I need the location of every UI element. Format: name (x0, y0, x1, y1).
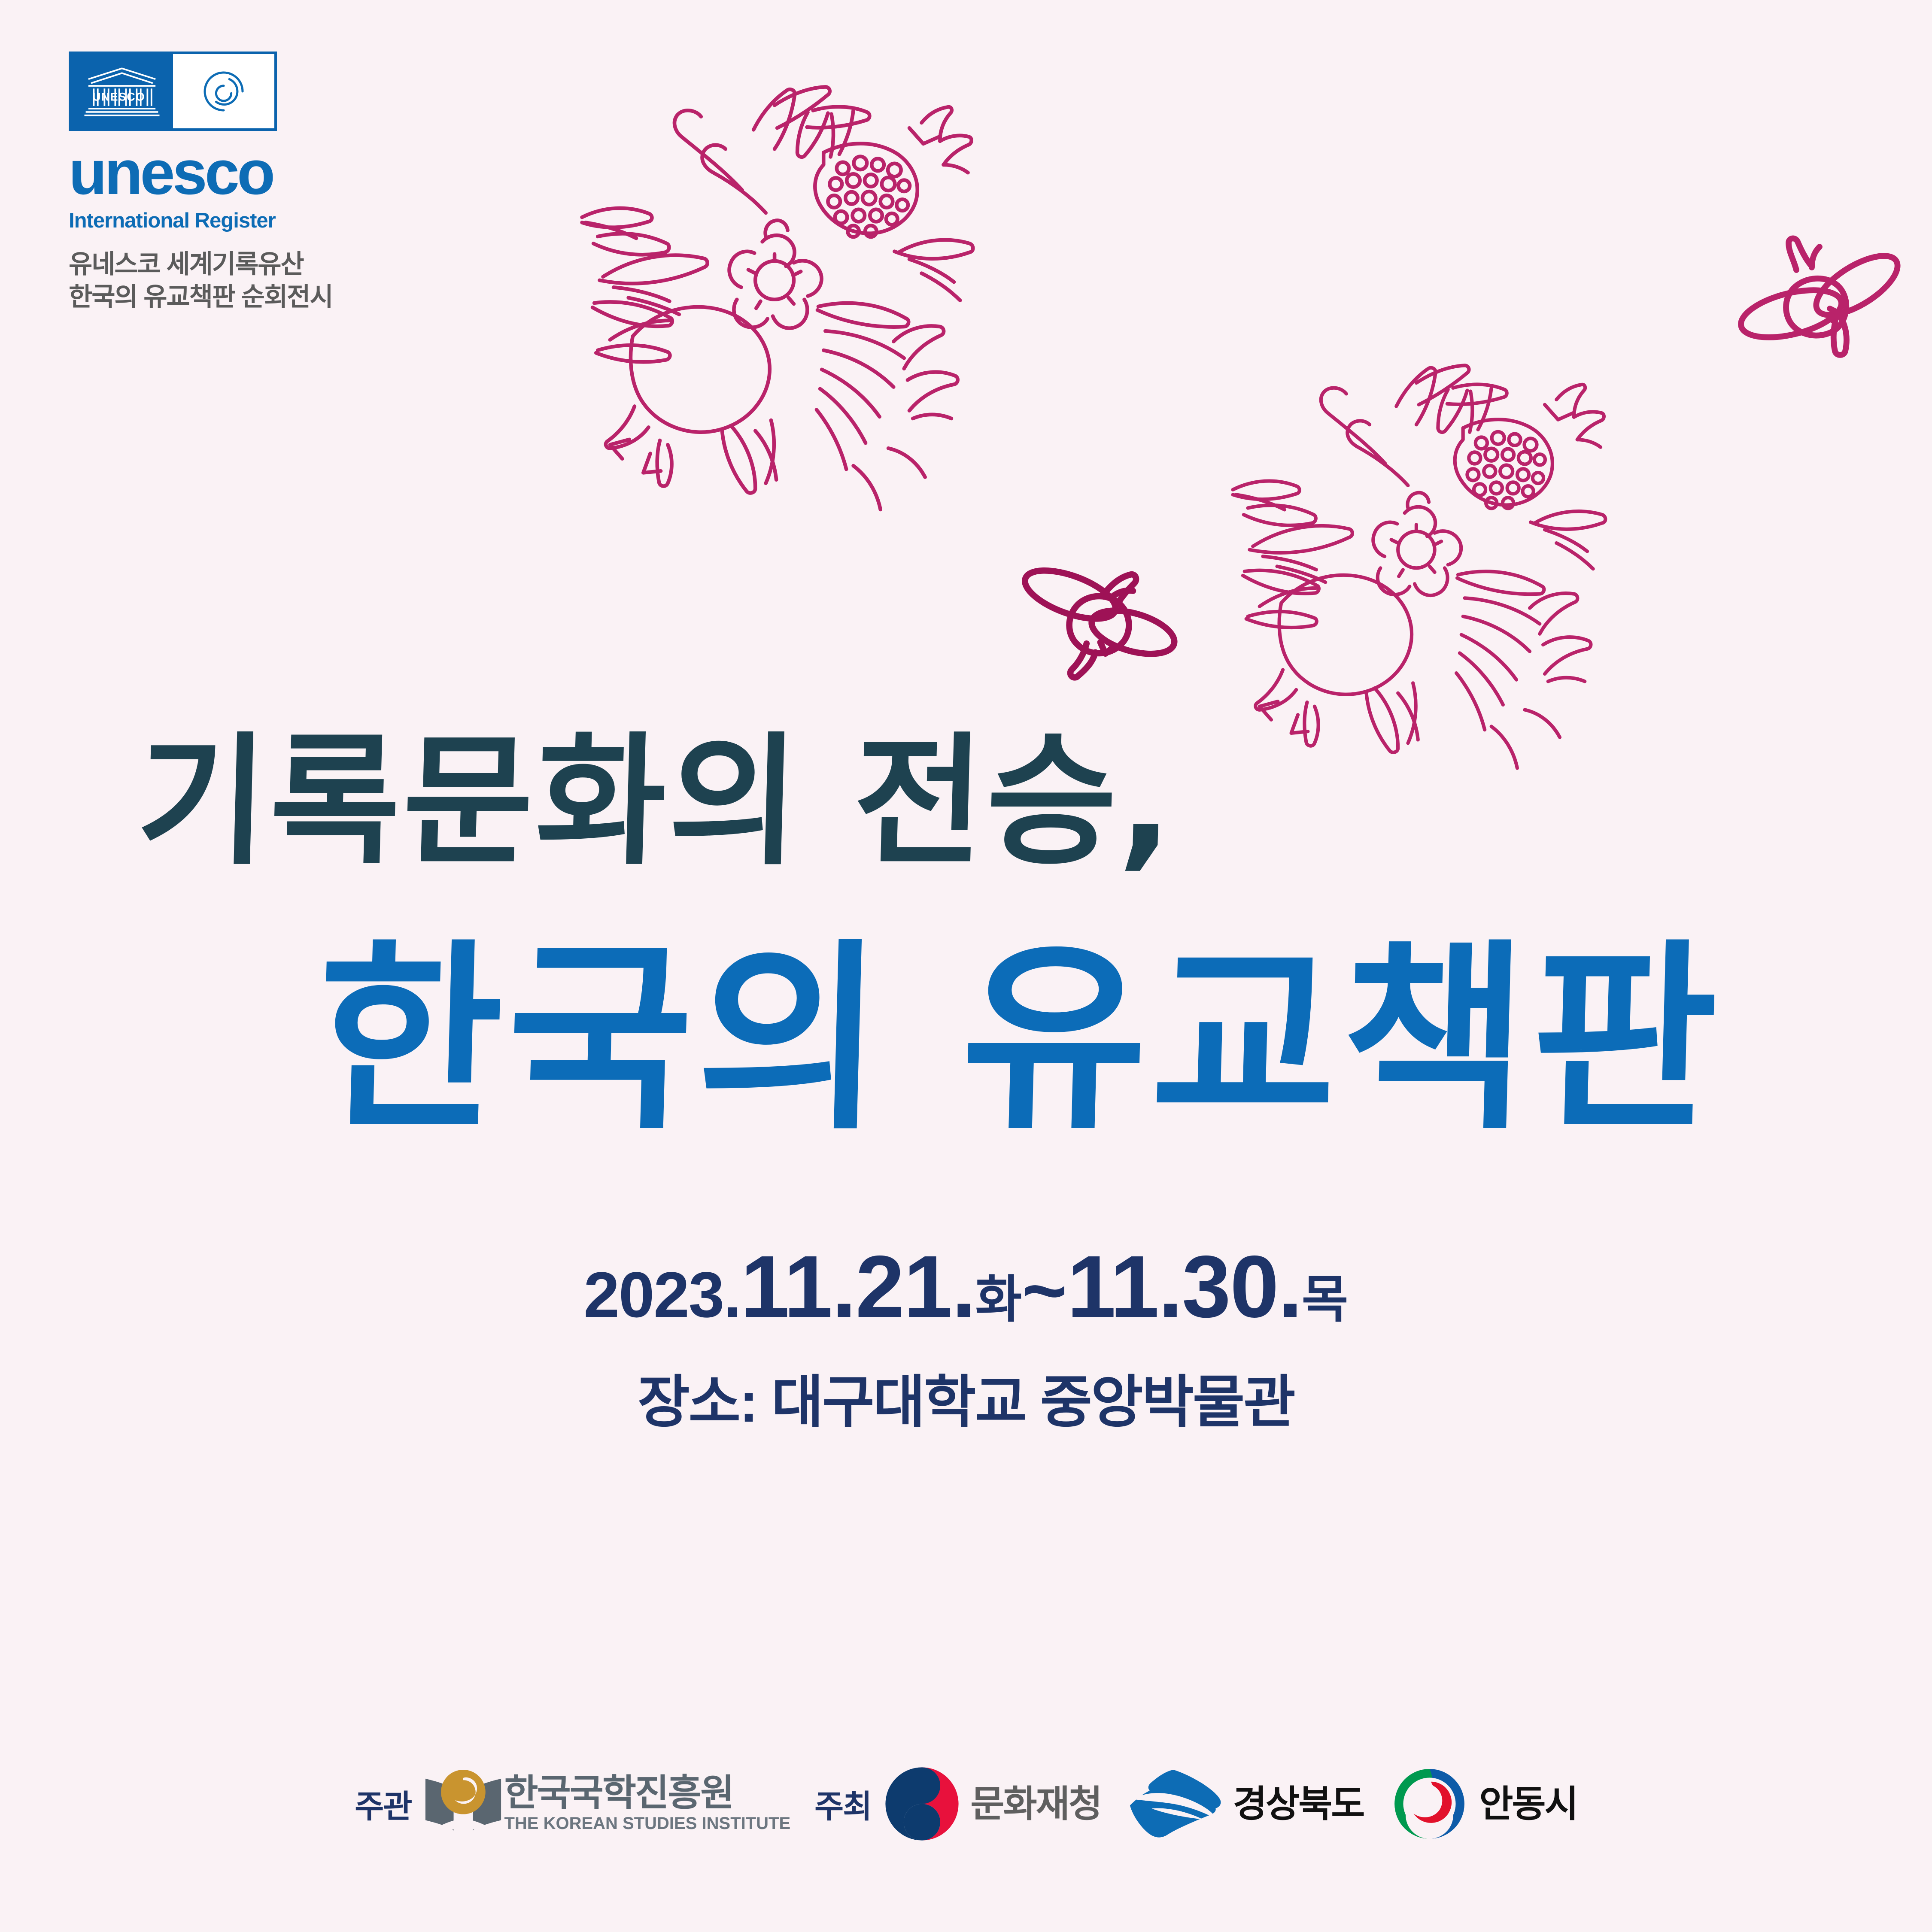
date-end-month: 11. (1067, 1237, 1182, 1336)
organizer-logo-group: 한국국학진흥원 THE KOREAN STUDIES INSTITUTE (422, 1766, 790, 1841)
unesco-korean-subtitle: 유네스코 세계기록유산 한국의 유교책판 순회전시 (69, 248, 455, 314)
memory-of-the-world-emblem (173, 54, 275, 128)
pomegranate-floral-motif-icon (545, 77, 1000, 532)
poster-title-line-2: 한국의 유교책판 (314, 876, 1725, 1168)
unesco-korean-line-2: 한국의 유교책판 순회전시 (69, 281, 455, 314)
organizer-name-en: THE KOREAN STUDIES INSTITUTE (504, 1814, 790, 1833)
korean-studies-institute-logo-icon (422, 1766, 504, 1841)
unesco-temple-emblem: UNESCO (71, 54, 173, 128)
date-start-weekday: 화 (975, 1271, 1022, 1328)
date-end-weekday: 목 (1302, 1271, 1349, 1328)
organizer-label: 주관 (355, 1781, 411, 1827)
pomegranate-floral-motif-icon (1198, 356, 1631, 790)
korea-government-taegeuk-icon (882, 1764, 962, 1844)
organizer-name: 한국국학진흥원 (504, 1774, 790, 1811)
date-year: 2023. (584, 1259, 741, 1331)
province-logo-group: 경상북도 (1125, 1764, 1364, 1844)
unesco-logo-box: UNESCO (69, 52, 277, 131)
date-range-mark: ~ (1022, 1247, 1067, 1334)
host-name: 문화재청 (970, 1786, 1101, 1823)
host-label: 주최 (814, 1781, 871, 1827)
date-start-month: 11. (741, 1237, 856, 1336)
date-start-day: 21. (856, 1237, 975, 1336)
bee-icon (1735, 234, 1915, 376)
city-logo-group: 안동시 (1388, 1764, 1577, 1844)
andong-city-logo-icon (1388, 1764, 1471, 1844)
date-end-day: 30. (1182, 1237, 1302, 1336)
svg-text:UNESCO: UNESCO (93, 90, 146, 103)
city-name: 안동시 (1479, 1786, 1577, 1823)
gyeongsangbuk-do-logo-icon (1125, 1764, 1226, 1844)
poster-canvas: UNESCO unesco International Register 유네스… (0, 0, 1932, 1932)
exhibition-venue-line: 장소: 대구대학교 중앙박물관 (0, 1356, 1932, 1438)
unesco-korean-line-1: 유네스코 세계기록유산 (69, 248, 455, 281)
poster-title-line-1: 기록문화의 전승, (135, 687, 1179, 892)
footer-logo-row: 주관 한국국학진흥원 THE KOREAN STUDIES INSTITUTE … (0, 1764, 1932, 1844)
spiral-register-icon (200, 68, 247, 115)
unesco-branding-block: UNESCO unesco International Register 유네스… (69, 52, 455, 314)
unesco-wordmark: unesco (69, 143, 455, 203)
exhibition-date-line: 2023.11.21.화~11.30.목 (0, 1236, 1932, 1338)
unesco-register-label: International Register (69, 209, 455, 233)
province-name: 경상북도 (1233, 1786, 1364, 1823)
host-logo-group: 문화재청 (882, 1764, 1101, 1844)
unesco-temple-icon: UNESCO (81, 64, 163, 118)
bee-icon (1018, 545, 1181, 687)
